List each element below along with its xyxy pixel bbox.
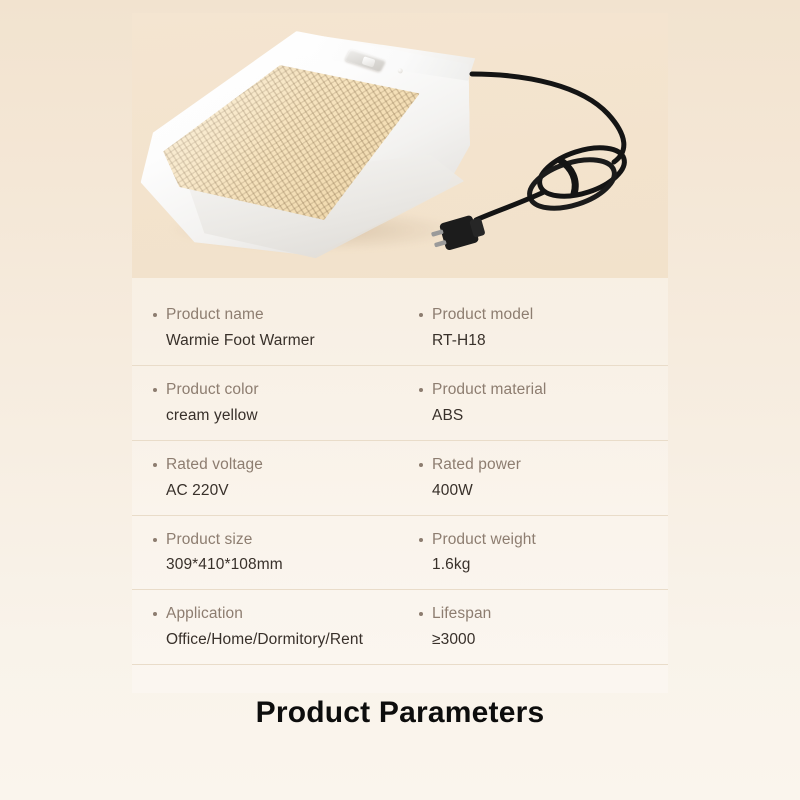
- specifications-table: Product name Warmie Foot Warmer Product …: [132, 291, 668, 665]
- spec-value: RT-H18: [418, 331, 668, 352]
- product-card: Product name Warmie Foot Warmer Product …: [132, 13, 668, 693]
- spec-label: Application: [152, 604, 400, 625]
- spec-cell-lifespan: Lifespan ≥3000: [400, 590, 668, 664]
- spec-label: Product material: [418, 380, 668, 401]
- spec-label: Lifespan: [418, 604, 668, 625]
- spec-value: Warmie Foot Warmer: [152, 331, 400, 352]
- spec-row: Product name Warmie Foot Warmer Product …: [132, 291, 668, 366]
- product-image-panel: [132, 13, 668, 278]
- spec-label: Product name: [152, 305, 400, 326]
- spec-label: Product size: [152, 530, 400, 551]
- spec-value: AC 220V: [152, 481, 400, 502]
- spec-value: 400W: [418, 481, 668, 502]
- spec-value: cream yellow: [152, 406, 400, 427]
- spec-value: Office/Home/Dormitory/Rent: [152, 630, 400, 651]
- spec-cell-product-model: Product model RT-H18: [400, 291, 668, 365]
- spec-value: 1.6kg: [418, 555, 668, 576]
- spec-row: Product size 309*410*108mm Product weigh…: [132, 516, 668, 591]
- spec-cell-product-color: Product color cream yellow: [132, 366, 400, 440]
- foot-warmer-device: [138, 28, 472, 259]
- spec-label: Rated power: [418, 455, 668, 476]
- power-cord: [432, 68, 672, 263]
- spec-label: Product color: [152, 380, 400, 401]
- spec-row: Product color cream yellow Product mater…: [132, 366, 668, 441]
- spec-label: Product weight: [418, 530, 668, 551]
- spec-value: ABS: [418, 406, 668, 427]
- product-image-stage: [132, 13, 668, 278]
- spec-label: Product model: [418, 305, 668, 326]
- spec-label: Rated voltage: [152, 455, 400, 476]
- spec-row: Application Office/Home/Dormitory/Rent L…: [132, 590, 668, 665]
- spec-value: ≥3000: [418, 630, 668, 651]
- spec-cell-product-size: Product size 309*410*108mm: [132, 516, 400, 590]
- page-title: Product Parameters: [0, 696, 800, 730]
- spec-cell-product-name: Product name Warmie Foot Warmer: [132, 291, 400, 365]
- spec-cell-application: Application Office/Home/Dormitory/Rent: [132, 590, 400, 664]
- spec-value: 309*410*108mm: [152, 555, 400, 576]
- spec-cell-rated-voltage: Rated voltage AC 220V: [132, 441, 400, 515]
- spec-cell-product-material: Product material ABS: [400, 366, 668, 440]
- spec-cell-rated-power: Rated power 400W: [400, 441, 668, 515]
- spec-row: Rated voltage AC 220V Rated power 400W: [132, 441, 668, 516]
- spec-cell-product-weight: Product weight 1.6kg: [400, 516, 668, 590]
